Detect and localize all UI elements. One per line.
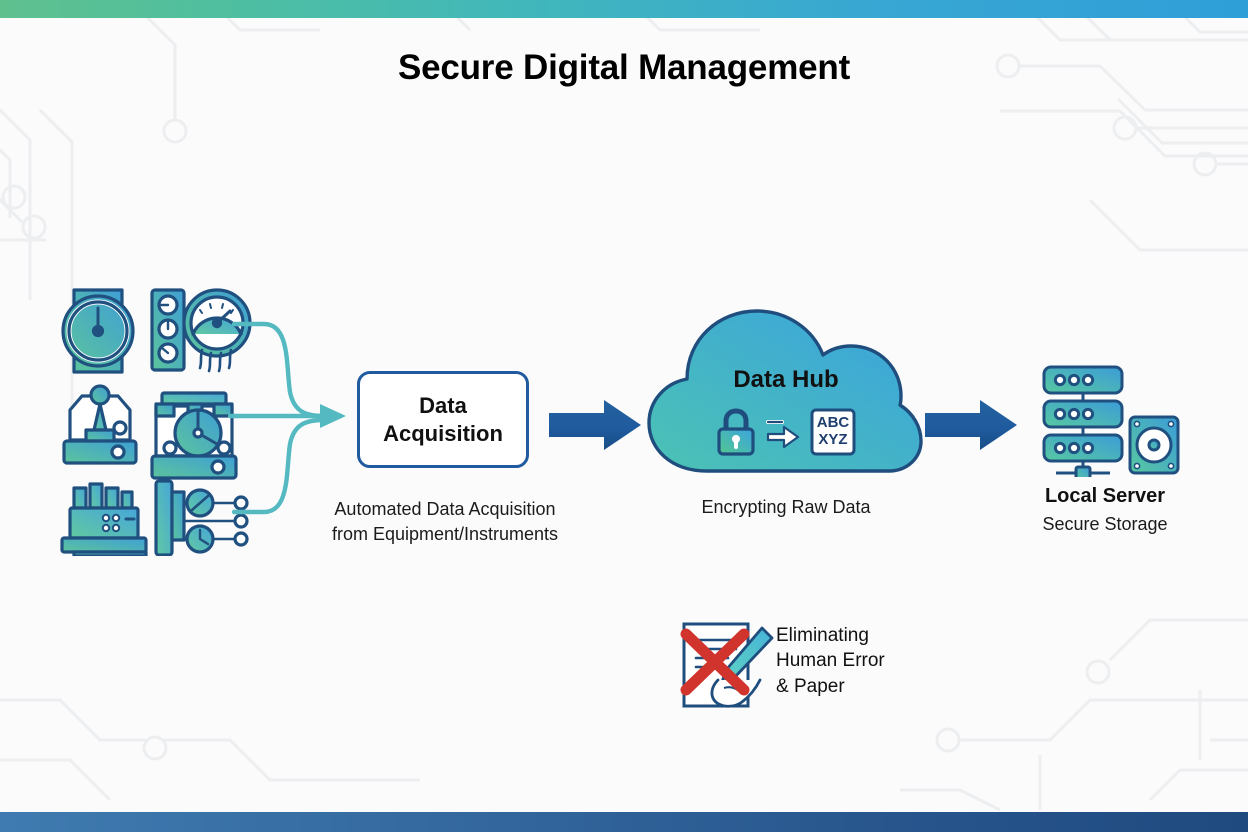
data-acquisition-caption-line2: from Equipment/Instruments	[300, 522, 590, 547]
arrow-right-icon	[766, 416, 800, 453]
cipher-card-line1: ABC	[817, 415, 850, 431]
data-acquisition-label: Data Acquisition	[383, 392, 503, 448]
data-acquisition-label-line1: Data	[419, 393, 467, 418]
local-server-icon	[1038, 363, 1182, 477]
data-acquisition-caption-line1: Automated Data Acquisition	[300, 497, 590, 522]
instrument-icon-cluster	[52, 278, 252, 556]
flow-arrow-to-data-hub	[549, 399, 641, 451]
encryption-illustration: ABC XYZ	[645, 403, 927, 465]
data-acquisition-label-line2: Acquisition	[383, 421, 503, 446]
local-server-title: Local Server	[1010, 485, 1200, 508]
data-acquisition-caption: Automated Data Acquisition from Equipmen…	[300, 497, 590, 547]
eliminating-line2: Human Error	[776, 648, 885, 673]
eliminating-text-block: Eliminating Human Error & Paper	[776, 623, 885, 699]
eliminating-line3: & Paper	[776, 674, 885, 699]
converging-flow-arrows	[228, 300, 370, 530]
data-hub-title: Data Hub	[645, 366, 927, 394]
local-server-subtitle: Secure Storage	[1010, 514, 1200, 535]
data-acquisition-box[interactable]: Data Acquisition	[357, 371, 529, 468]
slide-canvas: Secure Digital Management	[0, 0, 1248, 832]
eliminating-line1: Eliminating	[776, 623, 885, 648]
cipher-card-line2: XYZ	[818, 432, 847, 448]
data-hub-cloud: Data Hub	[645, 305, 927, 477]
page-title: Secure Digital Management	[0, 48, 1248, 88]
data-hub-caption: Encrypting Raw Data	[645, 497, 927, 518]
cipher-card-icon: ABC XYZ	[809, 407, 857, 462]
bottom-accent-bar	[0, 812, 1248, 832]
flow-arrow-to-local-server	[925, 399, 1017, 451]
padlock-icon	[715, 407, 757, 462]
top-accent-bar	[0, 0, 1248, 18]
